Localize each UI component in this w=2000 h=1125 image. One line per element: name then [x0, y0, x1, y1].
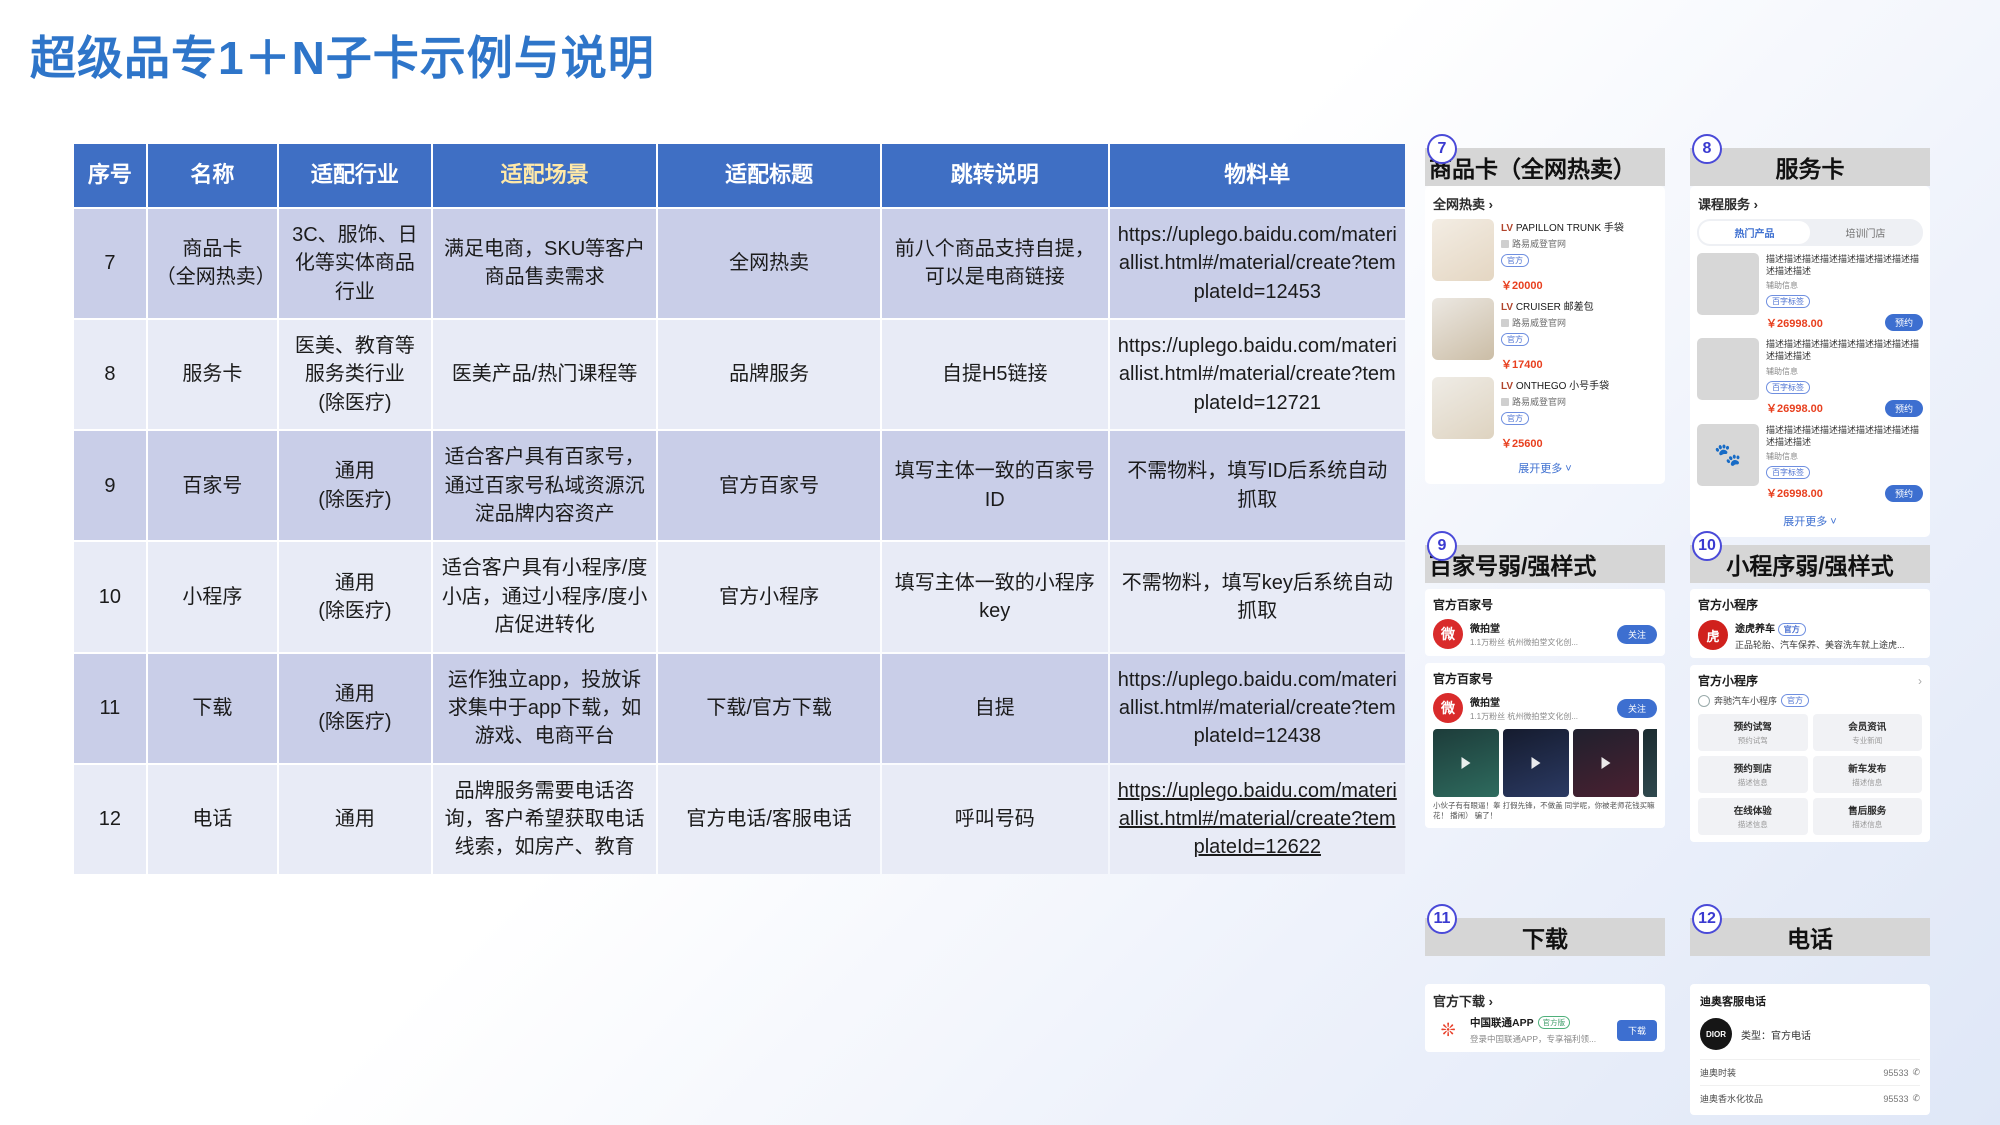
expand-more-button[interactable]: 展开更多 ˅: [1697, 509, 1923, 529]
cell-jump: 自提: [882, 654, 1108, 763]
cell-material: 不需物料，填写key后系统自动抓取: [1110, 542, 1405, 651]
service-thumb-icon: 🐾: [1697, 424, 1759, 486]
download-row[interactable]: ❊ 中国联通APP官方版 登录中国联通APP，专享福利领... 下载: [1433, 1015, 1657, 1045]
card-badge-8: 8: [1692, 134, 1722, 164]
card12-heading: 电话: [1690, 918, 1930, 956]
account-name: 微拍堂: [1470, 694, 1610, 709]
service-price: ￥26998.00: [1766, 315, 1823, 331]
cell-seq: 11: [74, 654, 146, 763]
video-caption: 小伙子有有眼逼！睾 打假先锋，不做盖 同学呢，你被老师花钱买嘛花！ 播闹） 骗了…: [1433, 801, 1657, 821]
th-industry: 适配行业: [279, 144, 431, 207]
th-scene: 适配场景: [433, 144, 657, 207]
baijiahao-strong-style: 官方百家号 微 微拍堂 1.1万粉丝 杭州微拍堂文化创... 关注 小伙子有有眼…: [1425, 663, 1665, 828]
cell-material: 不需物料，填写ID后系统自动抓取: [1110, 431, 1405, 540]
video-thumb[interactable]: [1643, 729, 1657, 797]
entry-item[interactable]: 在线体验描述信息: [1698, 798, 1808, 835]
card-badge-11: 11: [1427, 904, 1457, 934]
cell-name: 百家号: [148, 431, 277, 540]
strong-title: 官方百家号: [1433, 670, 1657, 687]
card-spec-table: 序号 名称 适配行业 适配场景 适配标题 跳转说明 物料单 7商品卡（全网热卖）…: [72, 142, 1407, 876]
product-thumb-icon: [1432, 377, 1494, 439]
table-row: 10小程序通用(除医疗)适合客户具有小程序/度小店，通过小程序/度小店促进转化官…: [74, 542, 1405, 651]
cell-scene: 适合客户具有百家号，通过百家号私域资源沉淀品牌内容资产: [433, 431, 657, 540]
cell-name: 下载: [148, 654, 277, 763]
weak-title: 官方百家号: [1433, 596, 1657, 613]
material-link[interactable]: https://uplego.baidu.com/materiallist.ht…: [1118, 780, 1397, 859]
official-tag: 官方: [1778, 623, 1806, 636]
product-info: LV PAPILLON TRUNK 手袋 路易威登官网 官方 ￥20000: [1501, 219, 1658, 293]
cell-scene: 满足电商，SKU等客户商品售卖需求: [433, 209, 657, 318]
table-row: 11下载通用(除医疗)运作独立app，投放诉求集中于app下载，如游戏、电商平台…: [74, 654, 1405, 763]
cell-scene: 适合客户具有小程序/度小店，通过小程序/度小店促进转化: [433, 542, 657, 651]
cell-industry: 通用(除医疗): [279, 542, 431, 651]
service-bottom: ￥26998.00 预约: [1766, 400, 1923, 417]
cell-material: https://uplego.baidu.com/materiallist.ht…: [1110, 320, 1405, 429]
entry-item[interactable]: 售后服务描述信息: [1813, 798, 1923, 835]
book-button[interactable]: 预约: [1885, 314, 1923, 331]
video-thumb[interactable]: [1433, 729, 1499, 797]
service-tabs: 热门产品 培训门店: [1697, 219, 1923, 246]
card12-body: 迪奥客服电话 DIOR 类型：官方电话 迪奥时装 95533 ✆ 迪奥香水化妆品…: [1690, 956, 1930, 1115]
account-avatar-icon: 虎: [1698, 620, 1728, 650]
call-icon: ✆: [1912, 1093, 1920, 1104]
card8-body: 课程服务 › 热门产品 培训门店 描述描述描述描述描述描述描述描述描述描述描述 …: [1690, 186, 1930, 537]
service-bottom: ￥26998.00 预约: [1766, 485, 1923, 502]
official-tag: 官方: [1781, 694, 1809, 707]
cell-seq: 12: [74, 765, 146, 874]
unicom-logo-icon: ❊: [1433, 1015, 1463, 1045]
account-avatar-icon: 微: [1433, 693, 1463, 723]
cell-name: 电话: [148, 765, 277, 874]
card7-heading: 商品卡（全网热卖）: [1425, 148, 1665, 186]
service-desc: 描述描述描述描述描述描述描述描述描述描述描述: [1766, 253, 1923, 277]
cell-seq: 10: [74, 542, 146, 651]
entry-item[interactable]: 预约到店描述信息: [1698, 756, 1808, 793]
cell-material[interactable]: https://uplego.baidu.com/materiallist.ht…: [1110, 765, 1405, 874]
service-desc: 描述描述描述描述描述描述描述描述描述描述描述: [1766, 338, 1923, 362]
mock-card-product: 7 商品卡（全网热卖） 全网热卖 › LV PAPILLON TRUNK 手袋 …: [1425, 148, 1665, 484]
cell-name: 服务卡: [148, 320, 277, 429]
service-info: 描述描述描述描述描述描述描述描述描述描述描述 辅助信息 百字标签 ￥26998.…: [1766, 338, 1923, 416]
phone-line-label: 迪奥香水化妆品: [1700, 1092, 1763, 1105]
th-jump: 跳转说明: [882, 144, 1108, 207]
phone-line-label: 迪奥时装: [1700, 1066, 1736, 1079]
product-price: ￥25600: [1501, 435, 1658, 451]
entry-item[interactable]: 预约试驾预约试驾: [1698, 714, 1808, 751]
table-header-row: 序号 名称 适配行业 适配场景 适配标题 跳转说明 物料单: [74, 144, 1405, 207]
account-row[interactable]: 微 微拍堂 1.1万粉丝 杭州微拍堂文化创... 关注: [1433, 619, 1657, 649]
product-item[interactable]: LV ONTHEGO 小号手袋 路易威登官网 官方 ￥25600: [1432, 377, 1658, 451]
account-desc: 正品轮胎、汽车保养、美容洗车就上途虎...: [1735, 638, 1922, 651]
strong-title: 官方小程序: [1698, 672, 1758, 689]
card10-body: 官方小程序 虎 途虎养车 官方 正品轮胎、汽车保养、美容洗车就上途虎... 官方…: [1690, 583, 1930, 842]
product-item[interactable]: LV PAPILLON TRUNK 手袋 路易威登官网 官方 ￥20000: [1432, 219, 1658, 293]
card7-body: 全网热卖 › LV PAPILLON TRUNK 手袋 路易威登官网 官方 ￥2…: [1425, 186, 1665, 484]
book-button[interactable]: 预约: [1885, 485, 1923, 502]
account-meta: 1.1万粉丝 杭州微拍堂文化创...: [1470, 637, 1610, 648]
follow-button[interactable]: 关注: [1617, 625, 1657, 644]
account-info: 途虎养车 官方 正品轮胎、汽车保养、美容洗车就上途虎...: [1735, 619, 1922, 651]
service-bottom: ￥26998.00 预约: [1766, 314, 1923, 331]
account-row[interactable]: 虎 途虎养车 官方 正品轮胎、汽车保养、美容洗车就上途虎...: [1698, 619, 1922, 651]
dior-logo-icon: DIOR: [1700, 1018, 1732, 1050]
service-price: ￥26998.00: [1766, 485, 1823, 501]
mock-card-download: 11 下载 官方下载 › ❊ 中国联通APP官方版 登录中国联通APP，专享福利…: [1425, 918, 1665, 1052]
official-version-tag: 官方版: [1538, 1016, 1571, 1029]
cell-title: 官方小程序: [658, 542, 880, 651]
entry-item[interactable]: 新车发布描述信息: [1813, 756, 1923, 793]
table-body: 7商品卡（全网热卖）3C、服饰、日化等实体商品行业满足电商，SKU等客户商品售卖…: [74, 209, 1405, 874]
account-row[interactable]: 微 微拍堂 1.1万粉丝 杭州微拍堂文化创... 关注: [1433, 693, 1657, 723]
product-thumb-icon: [1432, 219, 1494, 281]
cell-scene: 运作独立app，投放诉求集中于app下载，如游戏、电商平台: [433, 654, 657, 763]
account-name: 微拍堂: [1470, 620, 1610, 635]
service-sub: 辅助信息: [1766, 366, 1923, 377]
account-info: 微拍堂 1.1万粉丝 杭州微拍堂文化创...: [1470, 620, 1610, 648]
app-info: 中国联通APP官方版 登录中国联通APP，专享福利领...: [1470, 1015, 1610, 1045]
card11-body: 官方下载 › ❊ 中国联通APP官方版 登录中国联通APP，专享福利领... 下…: [1425, 956, 1665, 1052]
card11-section-link[interactable]: 官方下载 ›: [1433, 991, 1657, 1010]
product-shop: 路易威登官网: [1501, 316, 1658, 329]
app-icon: [1698, 695, 1710, 707]
th-material: 物料单: [1110, 144, 1405, 207]
cell-jump: 呼叫号码: [882, 765, 1108, 874]
cell-industry: 通用(除医疗): [279, 431, 431, 540]
th-seq: 序号: [74, 144, 146, 207]
mock-card-service: 8 服务卡 课程服务 › 热门产品 培训门店 描述描述描述描述描述描述描述描述描…: [1690, 148, 1930, 537]
phone-line-number: 95533 ✆: [1883, 1093, 1920, 1104]
call-icon: ✆: [1912, 1067, 1920, 1078]
cell-name: 商品卡（全网热卖）: [148, 209, 277, 318]
table-row: 8服务卡医美、教育等服务类行业(除医疗)医美产品/热门课程等品牌服务自提H5链接…: [74, 320, 1405, 429]
cell-industry: 3C、服饰、日化等实体商品行业: [279, 209, 431, 318]
service-item[interactable]: 描述描述描述描述描述描述描述描述描述描述描述 辅助信息 百字标签 ￥26998.…: [1697, 253, 1923, 331]
page-title: 超级品专1＋N子卡示例与说明: [30, 22, 655, 88]
service-sub: 辅助信息: [1766, 451, 1923, 462]
cell-material: https://uplego.baidu.com/materiallist.ht…: [1110, 209, 1405, 318]
phone-line-item[interactable]: 迪奥时装 95533 ✆: [1700, 1059, 1920, 1085]
video-thumb[interactable]: [1573, 729, 1639, 797]
product-name: LV ONTHEGO 小号手袋: [1501, 377, 1658, 392]
product-shop: 路易威登官网: [1501, 237, 1658, 250]
mock-card-phone: 12 电话 迪奥客服电话 DIOR 类型：官方电话 迪奥时装 95533 ✆ 迪…: [1690, 918, 1930, 1115]
book-button[interactable]: 预约: [1885, 400, 1923, 417]
official-tag: 官方: [1501, 254, 1529, 267]
service-item[interactable]: 描述描述描述描述描述描述描述描述描述描述描述 辅助信息 百字标签 ￥26998.…: [1697, 338, 1923, 416]
account-avatar-icon: 微: [1433, 619, 1463, 649]
play-icon: [1462, 757, 1471, 769]
cell-scene: 医美产品/热门课程等: [433, 320, 657, 429]
phone-panel: 迪奥客服电话 DIOR 类型：官方电话 迪奥时装 95533 ✆ 迪奥香水化妆品…: [1690, 984, 1930, 1115]
table-header: 序号 名称 适配行业 适配场景 适配标题 跳转说明 物料单: [74, 144, 1405, 207]
cell-jump: 填写主体一致的小程序key: [882, 542, 1108, 651]
miniprogram-account-line: 奔驰汽车小程序 官方: [1698, 694, 1922, 707]
product-info: LV CRUISER 邮差包 路易威登官网 官方 ￥17400: [1501, 298, 1658, 372]
table-row: 9百家号通用(除医疗)适合客户具有百家号，通过百家号私域资源沉淀品牌内容资产官方…: [74, 431, 1405, 540]
account-info: 微拍堂 1.1万粉丝 杭州微拍堂文化创...: [1470, 694, 1610, 722]
miniprogram-strong-style: 官方小程序 › 奔驰汽车小程序 官方 预约试驾预约试驾 会员资讯专业新闻 预约到…: [1690, 665, 1930, 842]
cell-jump: 填写主体一致的百家号ID: [882, 431, 1108, 540]
download-panel: 官方下载 › ❊ 中国联通APP官方版 登录中国联通APP，专享福利领... 下…: [1425, 984, 1665, 1052]
cell-industry: 通用(除医疗): [279, 654, 431, 763]
card8-section-link[interactable]: 课程服务 ›: [1698, 194, 1923, 213]
product-item[interactable]: LV CRUISER 邮差包 路易威登官网 官方 ￥17400: [1432, 298, 1658, 372]
card8-heading: 服务卡: [1690, 148, 1930, 186]
product-price: ￥17400: [1501, 356, 1658, 372]
th-name: 名称: [148, 144, 277, 207]
baijiahao-weak-style: 官方百家号 微 微拍堂 1.1万粉丝 杭州微拍堂文化创... 关注: [1425, 589, 1665, 656]
card10-heading: 小程序弱/强样式: [1690, 545, 1930, 583]
entry-item[interactable]: 会员资讯专业新闻: [1813, 714, 1923, 751]
cell-seq: 8: [74, 320, 146, 429]
card9-heading: 百家号弱/强样式: [1425, 545, 1665, 583]
product-info: LV ONTHEGO 小号手袋 路易威登官网 官方 ￥25600: [1501, 377, 1658, 451]
service-desc: 描述描述描述描述描述描述描述描述描述描述描述: [1766, 424, 1923, 448]
phone-line-number: 95533 ✆: [1883, 1067, 1920, 1078]
mock-card-baijiahao: 9 百家号弱/强样式 官方百家号 微 微拍堂 1.1万粉丝 杭州微拍堂文化创..…: [1425, 545, 1665, 835]
cell-jump: 前八个商品支持自提，可以是电商链接: [882, 209, 1108, 318]
product-name: LV CRUISER 邮差包: [1501, 298, 1658, 313]
cell-title: 全网热卖: [658, 209, 880, 318]
mock-card-miniprogram: 10 小程序弱/强样式 官方小程序 虎 途虎养车 官方 正品轮胎、汽车保养、美容…: [1690, 545, 1930, 849]
card-badge-12: 12: [1692, 904, 1722, 934]
cell-industry: 通用: [279, 765, 431, 874]
phone-panel-title: 迪奥客服电话: [1700, 993, 1920, 1009]
miniprogram-entry-grid: 预约试驾预约试驾 会员资讯专业新闻 预约到店描述信息 新车发布描述信息 在线体验…: [1698, 714, 1922, 835]
cell-title: 官方电话/客服电话: [658, 765, 880, 874]
shop-icon: [1501, 398, 1509, 406]
service-price: ￥26998.00: [1766, 400, 1823, 416]
chevron-right-icon[interactable]: ›: [1918, 674, 1922, 688]
product-thumb-icon: [1432, 298, 1494, 360]
download-button[interactable]: 下载: [1617, 1020, 1657, 1041]
service-info: 描述描述描述描述描述描述描述描述描述描述描述 辅助信息 百字标签 ￥26998.…: [1766, 424, 1923, 502]
cell-seq: 9: [74, 431, 146, 540]
official-tag: 官方: [1501, 412, 1529, 425]
th-title: 适配标题: [658, 144, 880, 207]
cell-industry: 医美、教育等服务类行业(除医疗): [279, 320, 431, 429]
follow-button[interactable]: 关注: [1617, 699, 1657, 718]
app-desc: 登录中国联通APP，专享福利领...: [1470, 1033, 1610, 1045]
card-badge-10: 10: [1692, 531, 1722, 561]
tab-training-store[interactable]: 培训门店: [1810, 221, 1921, 244]
service-thumb-icon: [1697, 338, 1759, 400]
cell-title: 下载/官方下载: [658, 654, 880, 763]
video-list: [1433, 729, 1657, 797]
brand-row: DIOR 类型：官方电话: [1700, 1018, 1920, 1050]
play-icon: [1532, 757, 1541, 769]
play-icon: [1602, 757, 1611, 769]
account-name: 途虎养车 官方: [1735, 619, 1922, 636]
cell-material: https://uplego.baidu.com/materiallist.ht…: [1110, 654, 1405, 763]
video-thumb[interactable]: [1503, 729, 1569, 797]
service-tag: 百字标签: [1766, 381, 1810, 394]
cell-name: 小程序: [148, 542, 277, 651]
service-info: 描述描述描述描述描述描述描述描述描述描述描述 辅助信息 百字标签 ￥26998.…: [1766, 253, 1923, 331]
card-badge-9: 9: [1427, 531, 1457, 561]
cell-seq: 7: [74, 209, 146, 318]
phone-type-label: 类型：官方电话: [1741, 1027, 1811, 1042]
service-tag: 百字标签: [1766, 295, 1810, 308]
shop-icon: [1501, 240, 1509, 248]
table-row: 12电话通用品牌服务需要电话咨询，客户希望获取电话线索，如房产、教育官方电话/客…: [74, 765, 1405, 874]
service-tag: 百字标签: [1766, 466, 1810, 479]
shop-icon: [1501, 319, 1509, 327]
cell-jump: 自提H5链接: [882, 320, 1108, 429]
card9-body: 官方百家号 微 微拍堂 1.1万粉丝 杭州微拍堂文化创... 关注 官方百家号 …: [1425, 583, 1665, 828]
expand-more-button[interactable]: 展开更多 ˅: [1432, 456, 1658, 476]
table-row: 7商品卡（全网热卖）3C、服饰、日化等实体商品行业满足电商，SKU等客户商品售卖…: [74, 209, 1405, 318]
phone-line-item[interactable]: 迪奥香水化妆品 95533 ✆: [1700, 1085, 1920, 1111]
product-name: LV PAPILLON TRUNK 手袋: [1501, 219, 1658, 234]
cell-scene: 品牌服务需要电话咨询，客户希望获取电话线索，如房产、教育: [433, 765, 657, 874]
product-shop: 路易威登官网: [1501, 395, 1658, 408]
tab-hot-products[interactable]: 热门产品: [1699, 221, 1810, 244]
app-name: 中国联通APP官方版: [1470, 1015, 1610, 1030]
weak-title: 官方小程序: [1698, 596, 1922, 613]
card-badge-7: 7: [1427, 134, 1457, 164]
cell-title: 官方百家号: [658, 431, 880, 540]
card7-section-link[interactable]: 全网热卖 ›: [1433, 194, 1658, 213]
card11-heading: 下载: [1425, 918, 1665, 956]
service-thumb-icon: [1697, 253, 1759, 315]
cell-title: 品牌服务: [658, 320, 880, 429]
service-item[interactable]: 🐾 描述描述描述描述描述描述描述描述描述描述描述 辅助信息 百字标签 ￥2699…: [1697, 424, 1923, 502]
product-price: ￥20000: [1501, 277, 1658, 293]
official-tag: 官方: [1501, 333, 1529, 346]
account-meta: 1.1万粉丝 杭州微拍堂文化创...: [1470, 711, 1610, 722]
service-sub: 辅助信息: [1766, 280, 1923, 291]
strong-header: 官方小程序 ›: [1698, 672, 1922, 689]
miniprogram-weak-style: 官方小程序 虎 途虎养车 官方 正品轮胎、汽车保养、美容洗车就上途虎...: [1690, 589, 1930, 658]
